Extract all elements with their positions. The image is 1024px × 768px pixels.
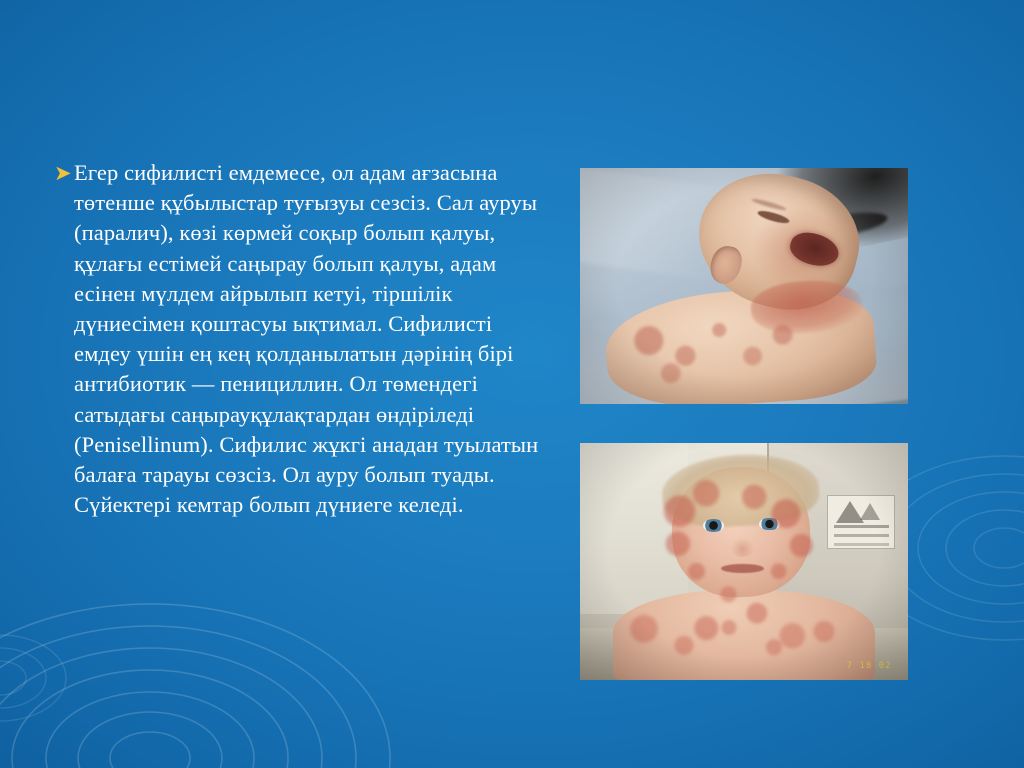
bullet-item-text: Егер сифилисті емдемесе, ол адам ағзасын…	[74, 158, 544, 520]
child-photo-bottom: 7 18 02	[580, 443, 908, 680]
photo-vignette	[580, 168, 908, 404]
slide-body-text: ➤ Егер сифилисті емдемесе, ол адам ағзас…	[44, 158, 544, 520]
infant-photo-top-content	[580, 168, 908, 404]
child-photo-bottom-content: 7 18 02	[580, 443, 908, 680]
bullet-arrow-icon: ➤	[44, 158, 74, 188]
infant-photo-top	[580, 168, 908, 404]
water-ripple-decoration-left	[0, 568, 460, 768]
photo-vignette	[580, 443, 908, 680]
presentation-slide: ➤ Егер сифилисті емдемесе, ол адам ағзас…	[0, 0, 1024, 768]
bullet-list-item: ➤ Егер сифилисті емдемесе, ол адам ағзас…	[44, 158, 544, 520]
